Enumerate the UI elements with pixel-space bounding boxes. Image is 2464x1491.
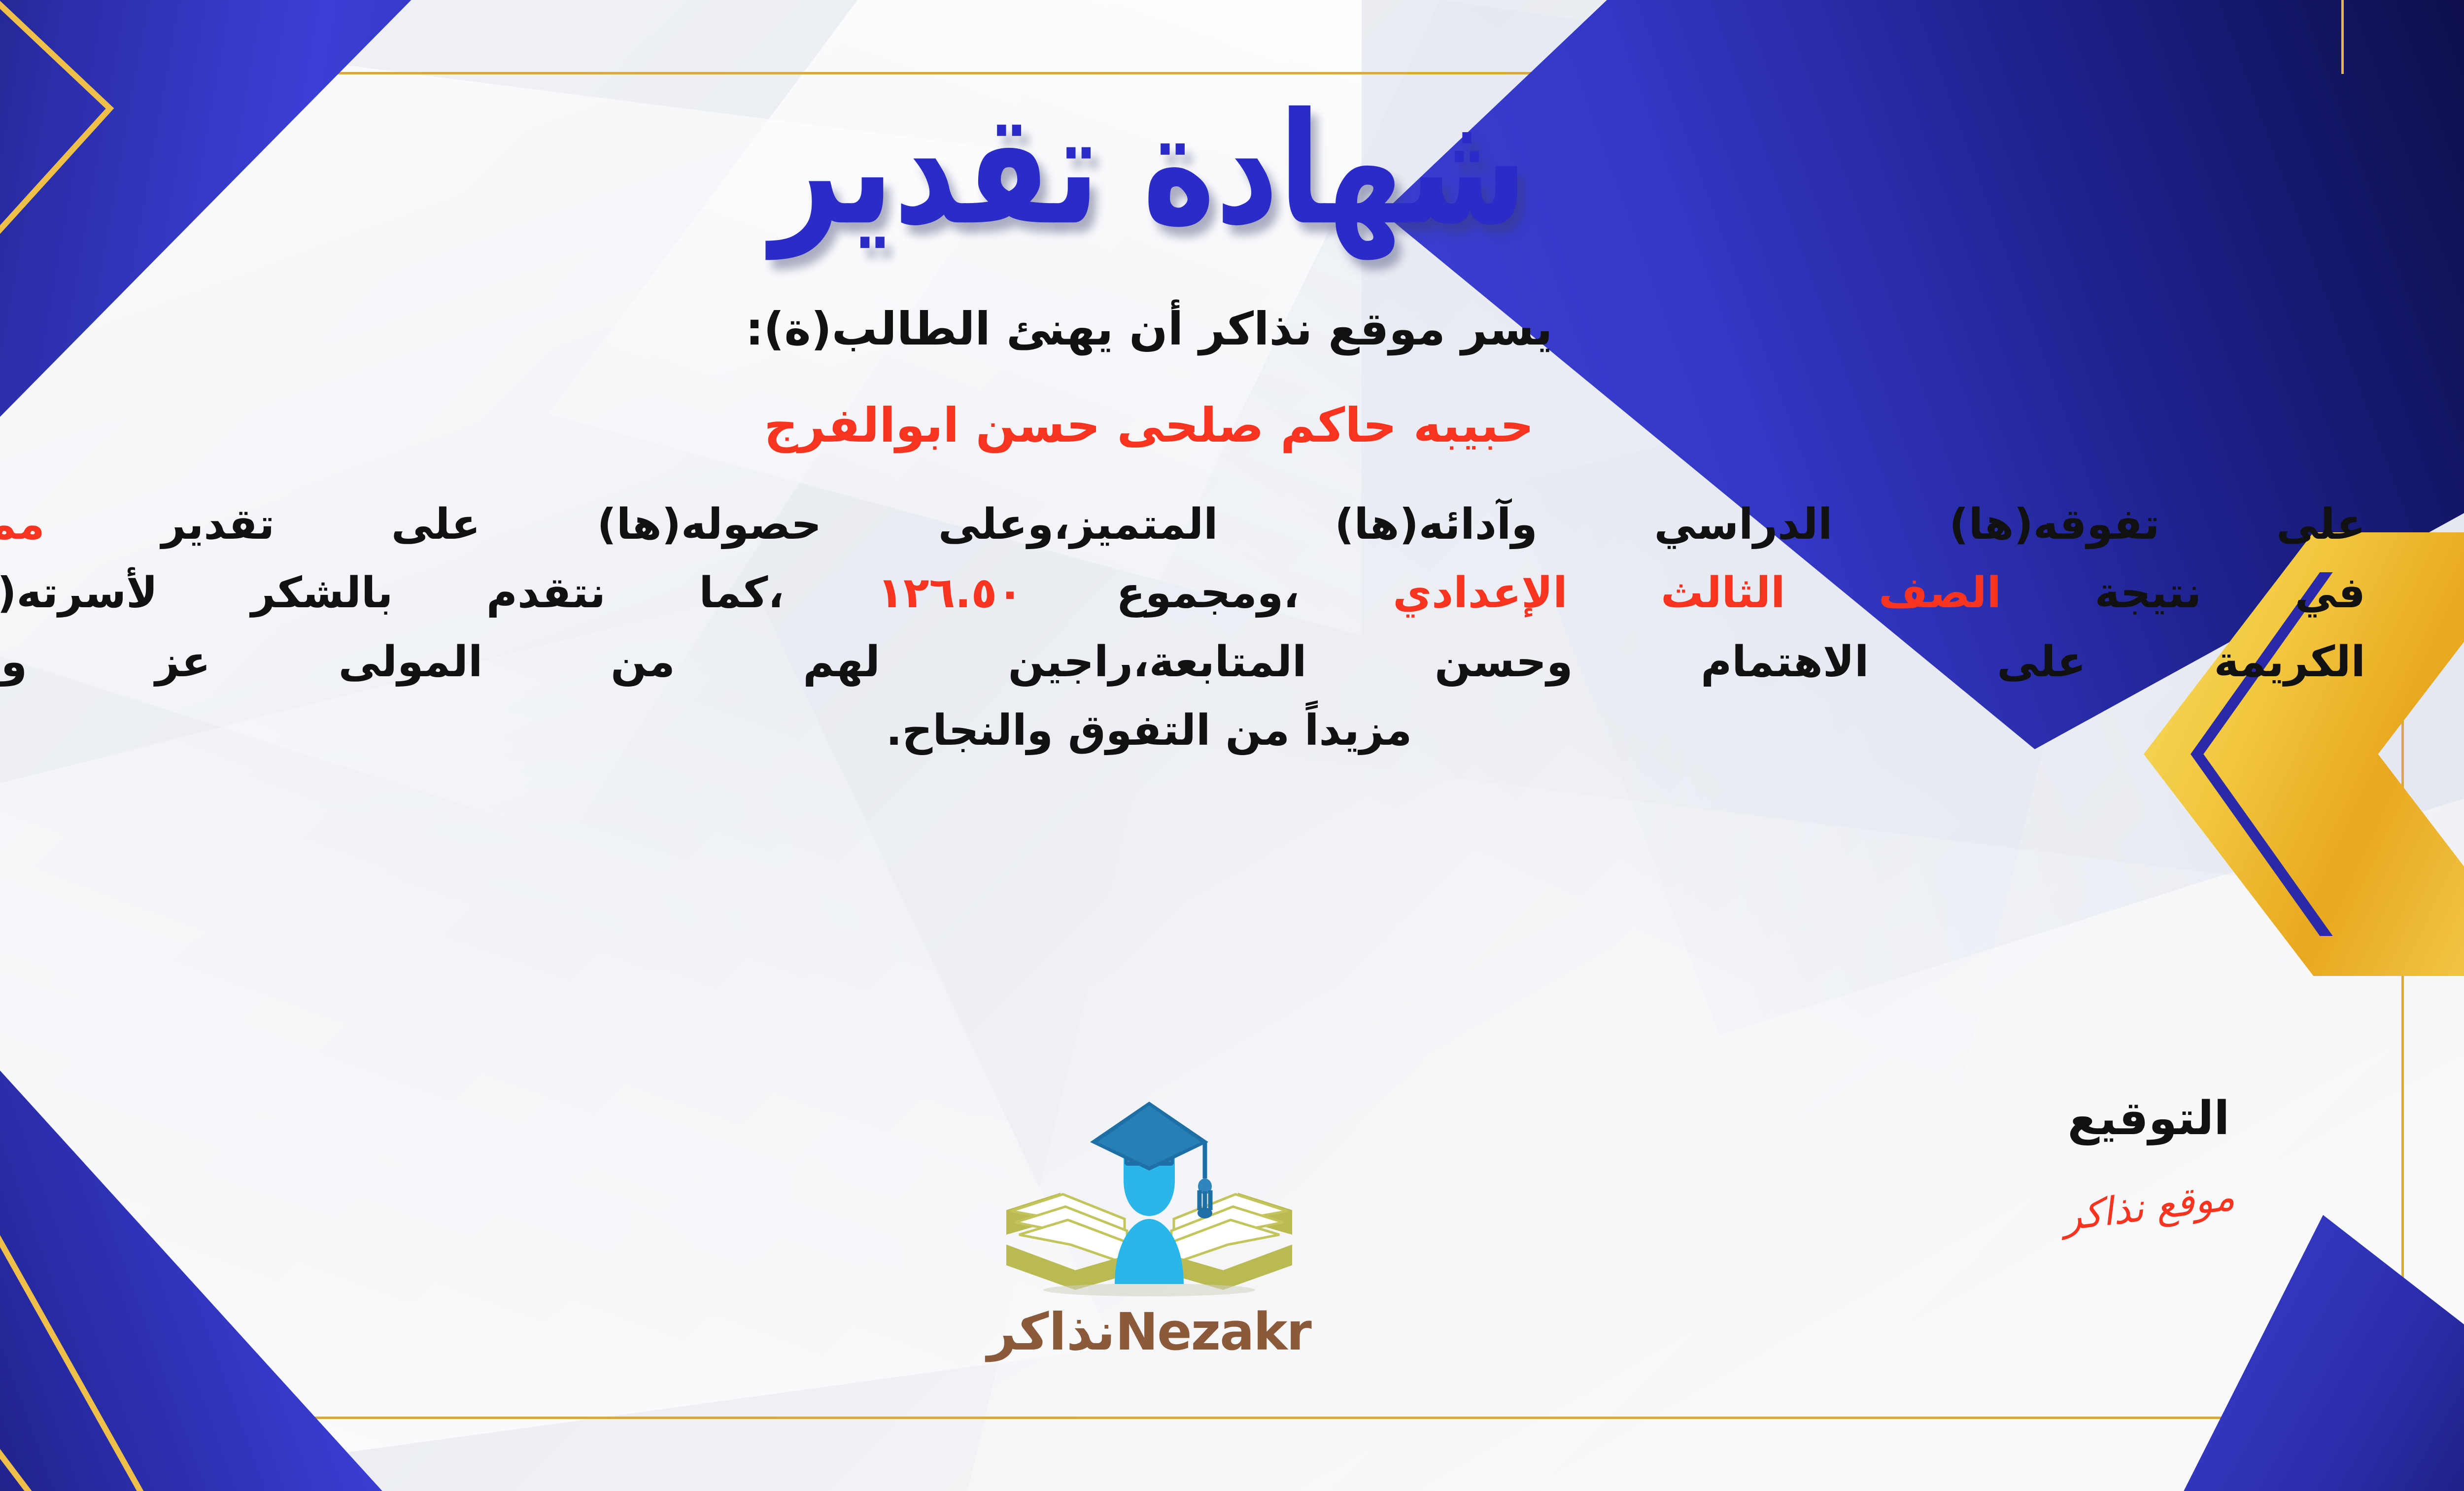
site-logo: Nezakrنذاكر: [927, 1087, 1371, 1362]
certificate-content: شهادة تقدير يسر موقع نذاكر أن يهنئ الطال…: [0, 74, 2365, 1417]
grade-value: ممتاز: [0, 500, 45, 549]
graduate-book-icon: [977, 1087, 1322, 1299]
achievement-text: على تفوقه(ها) الدراسي وآدائه(ها) المتميز…: [162, 500, 2365, 549]
thanks-prefix: ،كما نتقدم بالشكر لأسرته(ها): [0, 568, 784, 618]
certificate-body: يسر موقع نذاكر أن يهنئ الطالب(ة): حبيبه …: [0, 292, 2365, 765]
logo-artwork: [977, 1087, 1322, 1299]
total-score-value: ١٢٦.٥٠: [878, 568, 1023, 618]
certificate-page: شهادة تقدير يسر موقع نذاكر أن يهنئ الطال…: [0, 0, 2464, 1491]
certificate-title: شهادة تقدير: [771, 89, 1527, 250]
student-name: حبيبه حاكم صلحى حسن ابوالفرج: [0, 387, 2365, 464]
achievement-line: على تفوقه(ها) الدراسي وآدائه(ها) المتميز…: [0, 490, 2365, 559]
total-label: ،ومجموع: [1116, 568, 1300, 618]
signature-mark: موقع نذاكر: [2060, 1175, 2237, 1240]
signature-label: التوقيع: [1961, 1092, 2336, 1145]
closing-line: مزيداً من التفوق والنجاح.: [0, 696, 2365, 765]
logo-brand-text: Nezakrنذاكر: [927, 1302, 1371, 1362]
family-thanks-line: الكريمة على الاهتمام وحسن المتابعة،راجين…: [0, 628, 2365, 696]
grade-level-value: الصف الثالث الإعدادي: [1393, 568, 2001, 618]
result-line: في نتيجة الصف الثالث الإعدادي ،ومجموع ١٢…: [0, 559, 2365, 627]
result-prefix: في نتيجة: [2095, 568, 2365, 618]
gold-line-top-right-vertical: [2341, 0, 2344, 74]
intro-line: يسر موقع نذاكر أن يهنئ الطالب(ة):: [0, 292, 2365, 366]
signature-block: التوقيع موقع نذاكر: [1961, 1092, 2336, 1229]
certificate-footer: التوقيع موقع نذاكر: [0, 1092, 2365, 1397]
